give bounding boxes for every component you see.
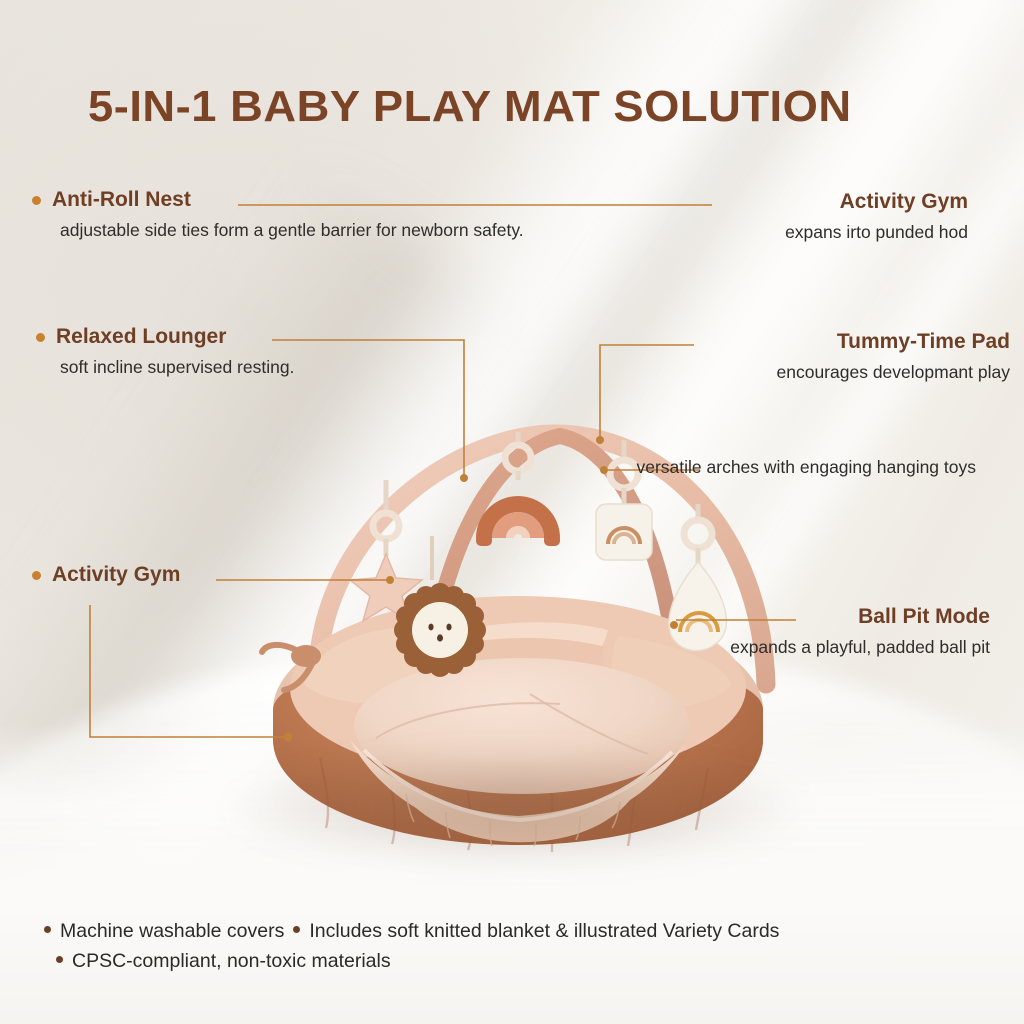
footer-text-blanket: Includes soft knitted blanket & illustra…	[309, 916, 779, 946]
callout-anti-roll-nest: Anti-Roll Nest adjustable side ties form…	[32, 188, 524, 242]
callout-heading-row: Anti-Roll Nest	[32, 188, 524, 212]
callout-heading: Anti-Roll Nest	[52, 188, 191, 212]
footer-bullet-icon	[44, 926, 51, 933]
bullet-dot-icon	[32, 571, 41, 580]
callout-heading-row: Tummy-Time Pad	[777, 330, 1011, 354]
bullet-dot-icon	[32, 196, 41, 205]
callout-heading-row: Activity Gym	[785, 190, 968, 214]
callout-heading: Activity Gym	[52, 563, 180, 587]
infographic-page: 5-IN-1 BABY PLAY MAT SOLUTION	[0, 0, 1024, 1024]
callout-description: expands a playful, padded ball pit	[730, 636, 990, 659]
callout-heading: Tummy-Time Pad	[837, 330, 1010, 354]
footer-line-1: Machine washable covers Includes soft kn…	[44, 916, 779, 946]
footer-text-cpsc: CPSC-compliant, non-toxic materials	[72, 946, 391, 976]
page-title: 5-IN-1 BABY PLAY MAT SOLUTION	[88, 82, 852, 132]
callout-relaxed-lounger: Relaxed Lounger soft incline supervised …	[36, 325, 294, 379]
callout-heading-row: Activity Gym	[32, 563, 180, 587]
footer-notes: Machine washable covers Includes soft kn…	[44, 916, 779, 976]
callout-tummy-time-pad: Tummy-Time Pad encourages developmant pl…	[777, 330, 1011, 384]
callout-description: expans irto punded hod	[785, 221, 968, 244]
footer-bullet-icon	[293, 926, 300, 933]
callout-activity-gym-right: Activity Gym expans irto punded hod	[785, 190, 968, 244]
callout-versatile-arches: versatile arches with engaging hanging t…	[636, 456, 976, 479]
callout-heading: Relaxed Lounger	[56, 325, 226, 349]
callout-heading-row: Relaxed Lounger	[36, 325, 294, 349]
product-drop-shadow	[226, 748, 806, 868]
callout-heading-row: Ball Pit Mode	[730, 605, 990, 629]
sunflower-plush-toy	[394, 536, 486, 677]
footer-bullet-icon	[56, 956, 63, 963]
callout-description: encourages developmant play	[777, 361, 1011, 384]
footer-text-washable: Machine washable covers	[60, 916, 284, 946]
callout-description: soft incline supervised resting.	[60, 356, 294, 379]
callout-heading: Activity Gym	[840, 190, 968, 214]
callout-description: versatile arches with engaging hanging t…	[636, 456, 976, 479]
bullet-dot-icon	[36, 333, 45, 342]
footer-line-2: CPSC-compliant, non-toxic materials	[44, 946, 779, 976]
callout-activity-gym-left: Activity Gym	[32, 563, 180, 587]
callout-description: adjustable side ties form a gentle barri…	[60, 219, 524, 242]
callout-heading: Ball Pit Mode	[858, 605, 990, 629]
callout-ball-pit-mode: Ball Pit Mode expands a playful, padded …	[730, 605, 990, 659]
